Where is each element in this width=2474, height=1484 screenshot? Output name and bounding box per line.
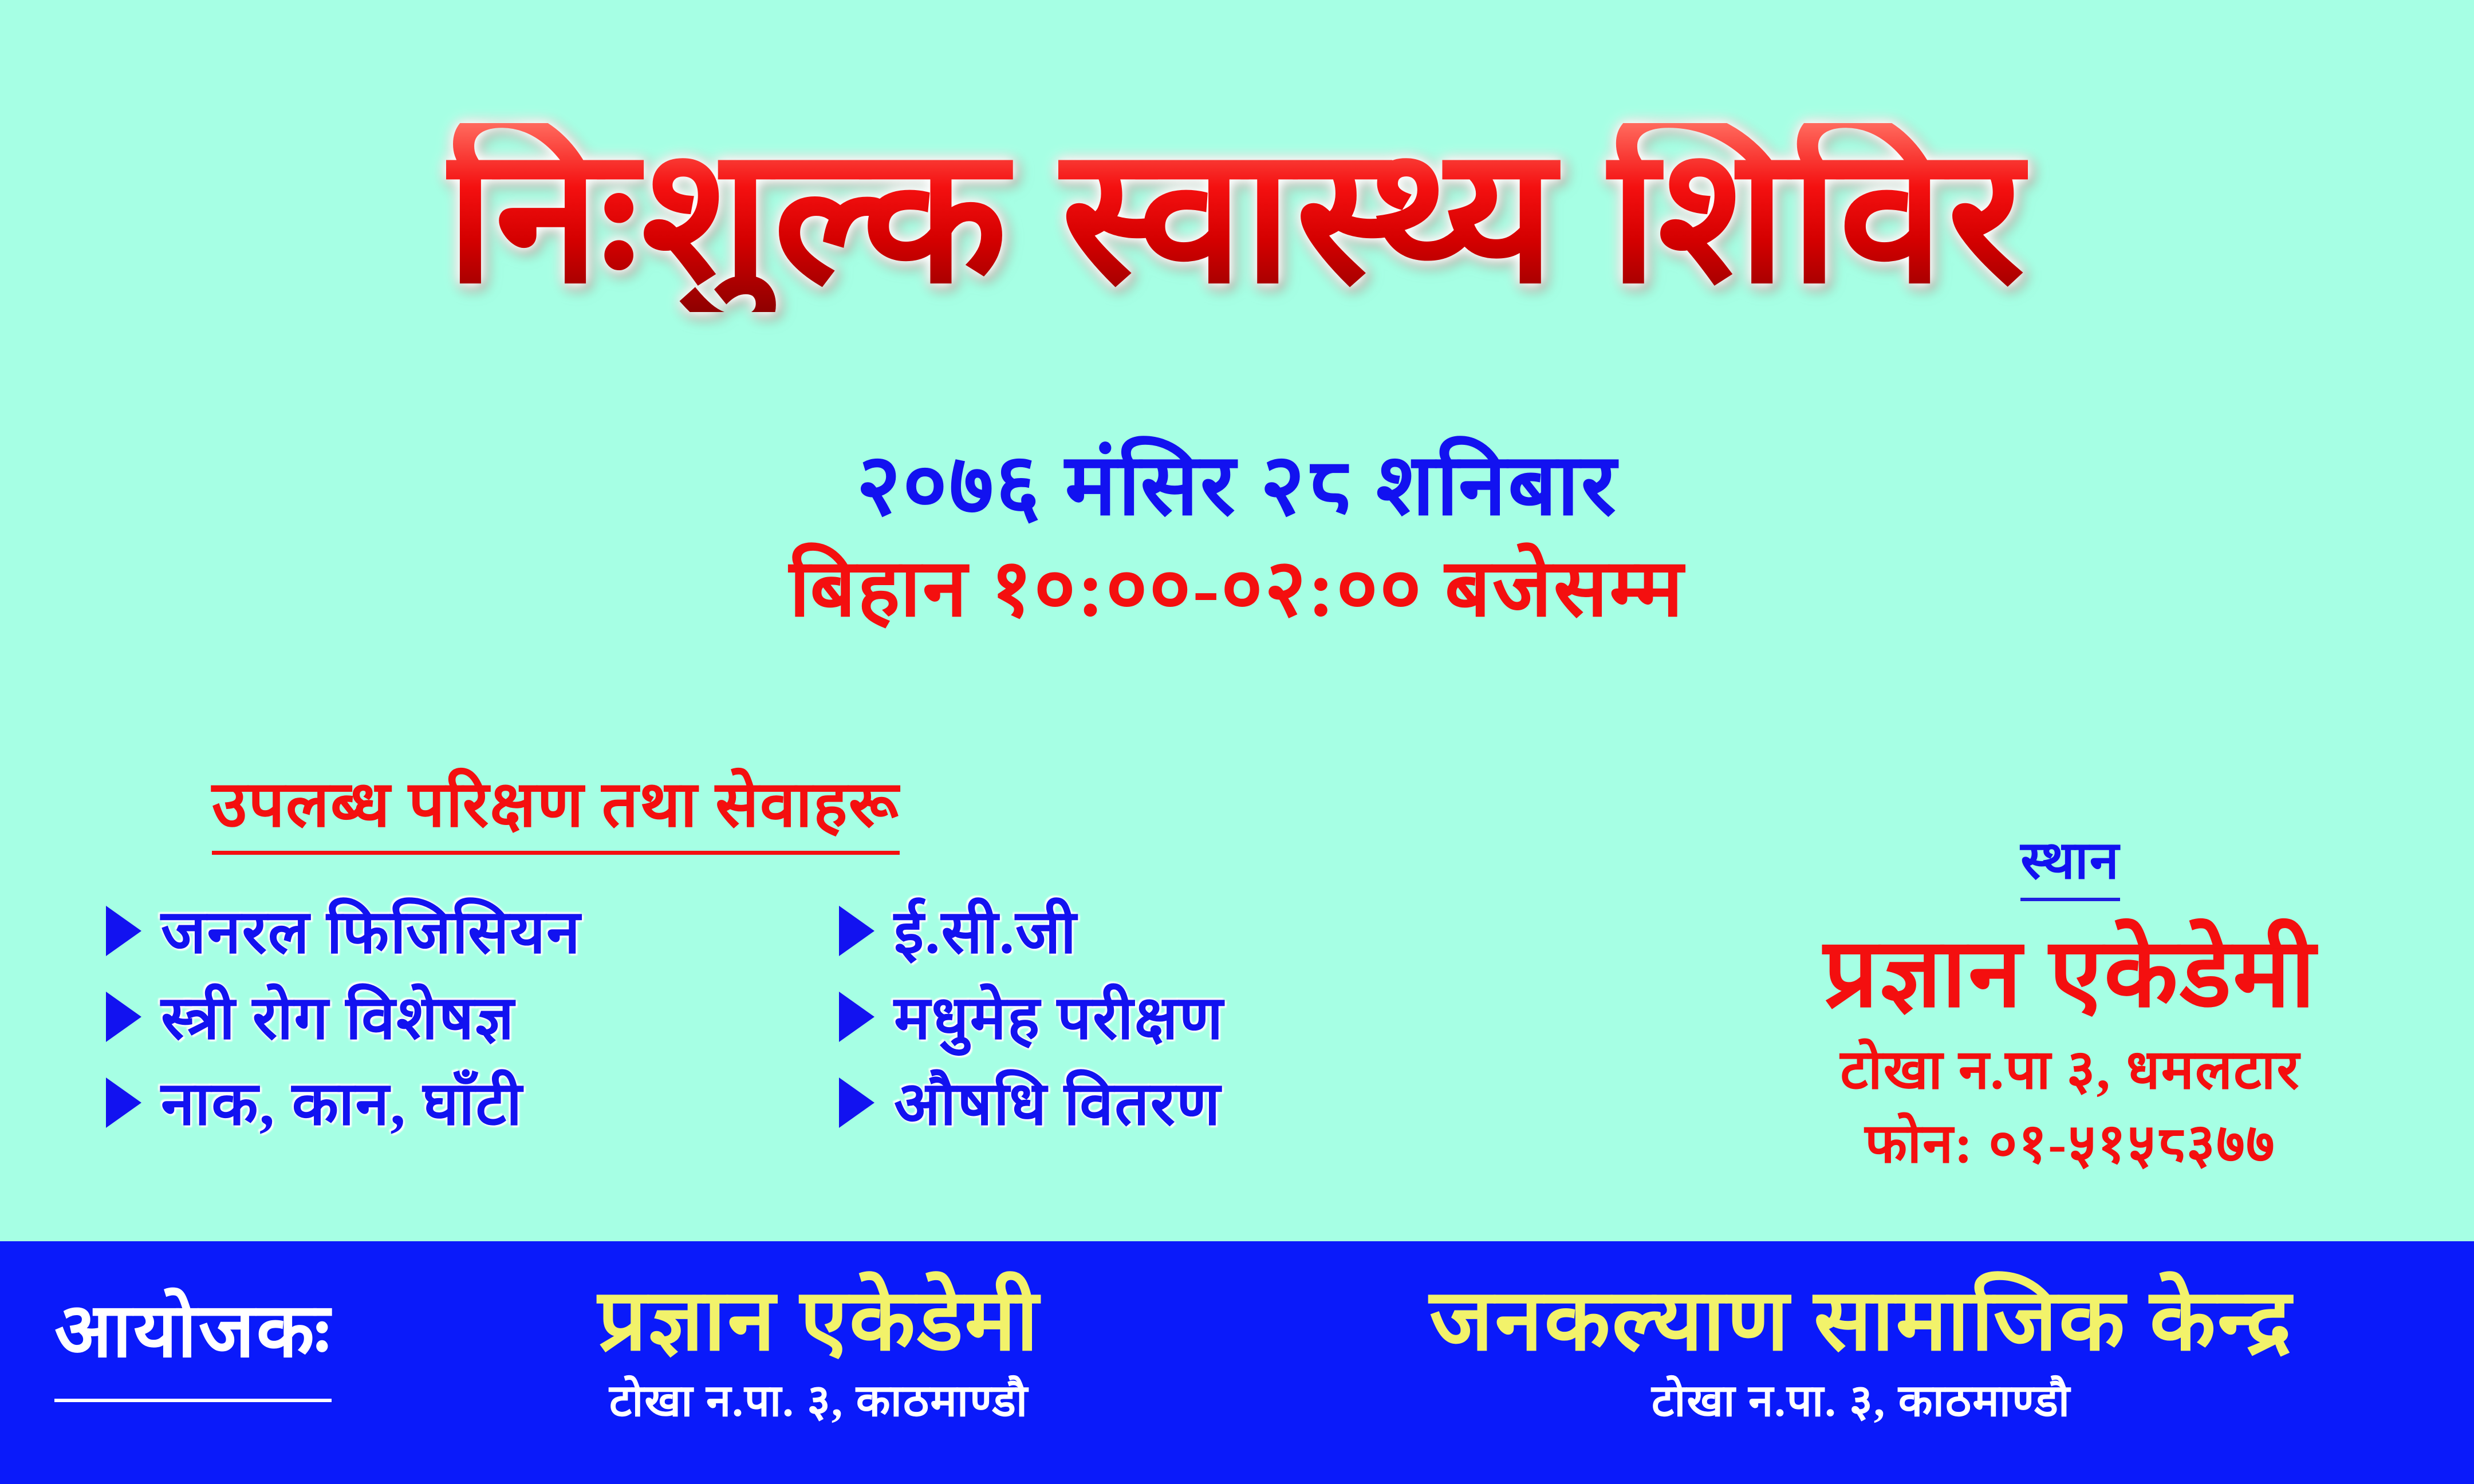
services-heading: उपलब्ध परिक्षण तथा सेवाहरू [212,770,900,855]
services-section: उपलब्ध परिक्षण तथा सेवाहरू जनरल फिजिसियन… [212,770,1546,855]
services-right-column: ई.सी.जी मधुमेह परीक्षण औषधि वितरण [839,899,1515,1138]
services-columns: जनरल फिजिसियन स्त्री रोग विशेषज्ञ नाक, क… [106,899,1549,1138]
list-item: मधुमेह परीक्षण [839,985,1515,1052]
list-item: नाक, कान, घाँटी [106,1071,839,1138]
venue-address: टोखा न.पा ३, धमलटार [1689,1040,2451,1100]
service-label: स्त्री रोग विशेषज्ञ [161,985,515,1052]
health-camp-banner: निःशुल्क स्वास्थ्य शिविर २०७६ मंसिर २८ श… [0,0,2474,1484]
service-label: जनरल फिजिसियन [161,899,581,966]
organizer-item: जनकल्याण सामाजिक केन्द्र टोखा न.पा. ३, क… [1340,1274,2382,1426]
banner-main-area: निःशुल्क स्वास्थ्य शिविर २०७६ मंसिर २८ श… [0,0,2474,1241]
triangle-right-icon [839,906,874,956]
triangle-right-icon [839,992,874,1042]
organizer-bar: आयोजकः प्रज्ञान एकेडेमी टोखा न.पा. ३, का… [0,1241,2474,1484]
list-item: ई.सी.जी [839,899,1515,966]
page-title: निःशुल्क स्वास्थ्य शिविर [446,123,2028,312]
service-label: नाक, कान, घाँटी [161,1071,523,1138]
organizer-address: टोखा न.पा. ३, काठमाण्डौ [1340,1376,2382,1426]
venue-phone: फोन: ०१-५१५८३७७ [1689,1114,2451,1174]
event-date: २०७६ मंसिर २८ शनिबार [0,441,2474,531]
triangle-right-icon [839,1078,874,1128]
list-item: स्त्री रोग विशेषज्ञ [106,985,839,1052]
service-label: औषधि वितरण [894,1071,1222,1138]
venue-label: स्थान [2020,833,2120,901]
organizer-name: प्रज्ञान एकेडेमी [447,1274,1191,1367]
organizer-item: प्रज्ञान एकेडेमी टोखा न.पा. ३, काठमाण्डौ [447,1274,1191,1426]
triangle-right-icon [106,992,141,1042]
triangle-right-icon [106,1078,141,1128]
venue-name: प्रज्ञान एकेडेमी [1689,923,2451,1025]
service-label: मधुमेह परीक्षण [894,985,1224,1052]
service-label: ई.सी.जी [894,899,1077,966]
organizer-name: जनकल्याण सामाजिक केन्द्र [1340,1274,2382,1367]
list-item: औषधि वितरण [839,1071,1515,1138]
event-time: बिहान १०:००-०२:०० बजेसम्म [0,547,2474,631]
title-container: निःशुल्क स्वास्थ्य शिविर [0,123,2474,312]
triangle-right-icon [106,906,141,956]
venue-section: स्थान प्रज्ञान एकेडेमी टोखा न.पा ३, धमलट… [1689,833,2451,1174]
services-left-column: जनरल फिजिसियन स्त्री रोग विशेषज्ञ नाक, क… [106,899,839,1138]
list-item: जनरल फिजिसियन [106,899,839,966]
organizer-address: टोखा न.पा. ३, काठमाण्डौ [447,1376,1191,1426]
organizer-label: आयोजकः [54,1292,332,1402]
